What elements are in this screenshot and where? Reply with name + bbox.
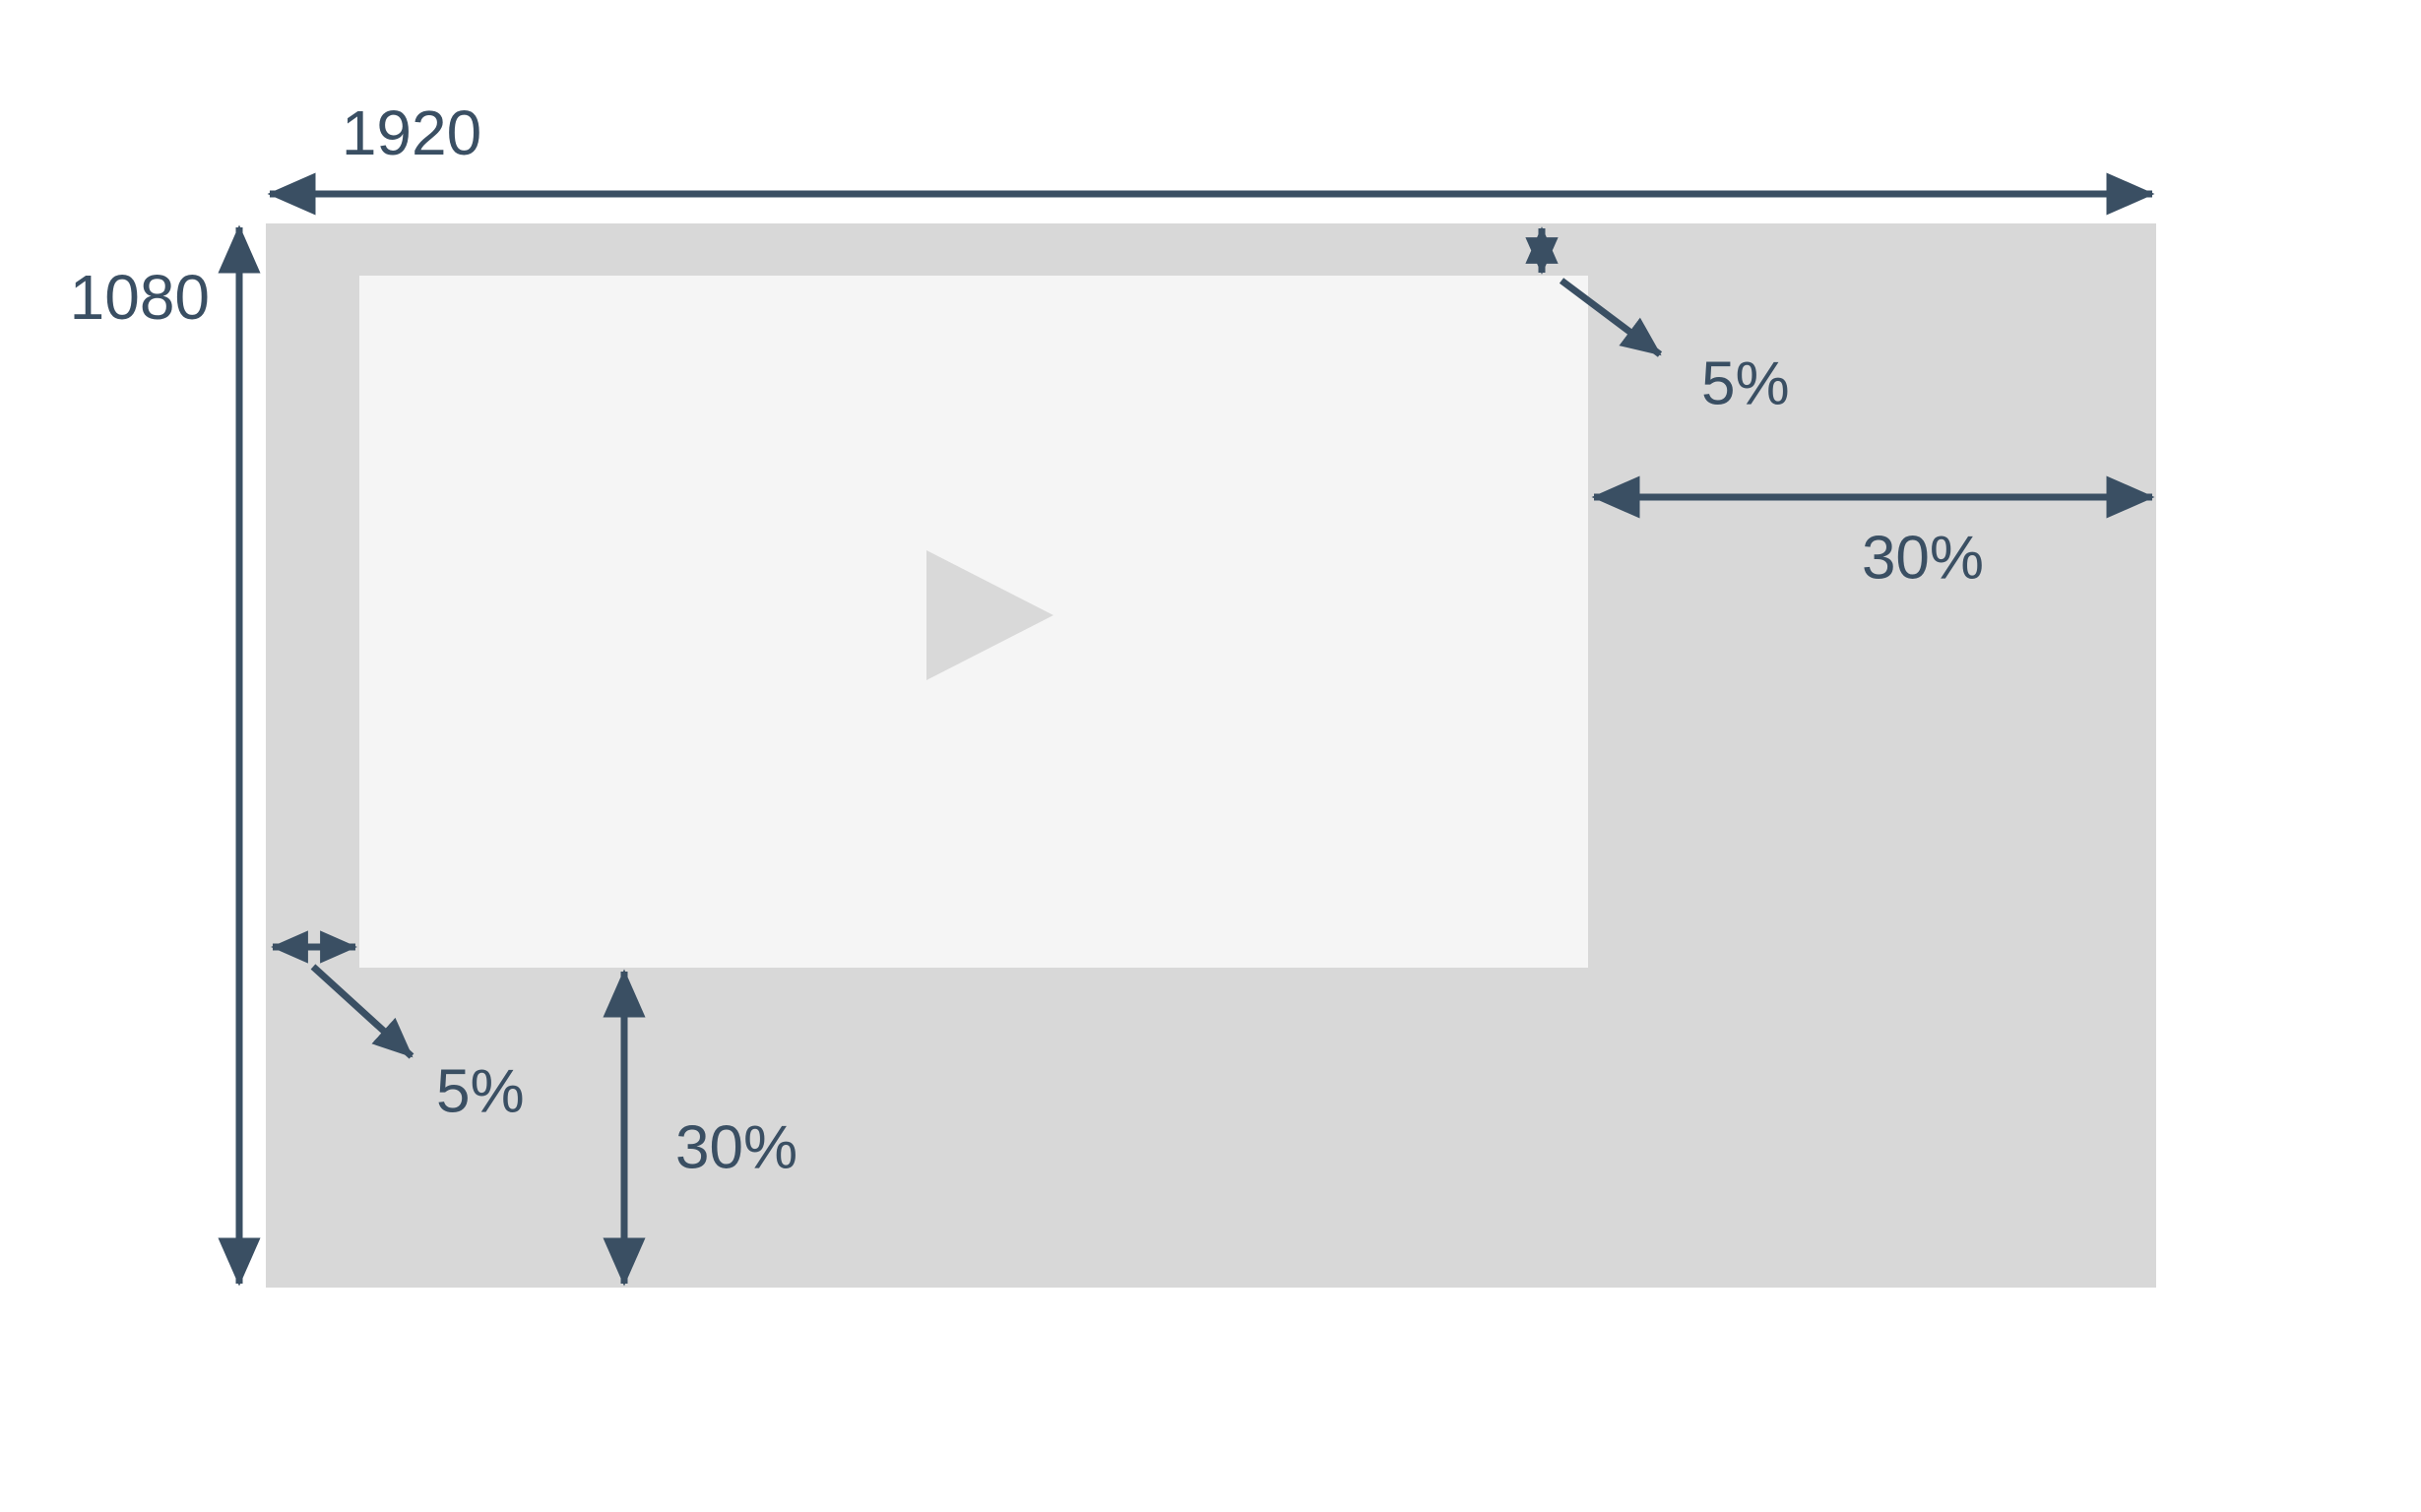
right-inset-label: 30% (1862, 524, 1984, 592)
top-inset-label: 5% (1701, 349, 1790, 417)
width-dimension-label: 1920 (342, 97, 481, 168)
bottom-inset-label: 30% (675, 1113, 797, 1181)
left-inset-label: 5% (436, 1057, 525, 1125)
height-dimension-label: 1080 (70, 262, 210, 333)
diagram-root: 1920 1080 5% 30% 5% 30% (0, 0, 2421, 1512)
dimension-diagram: 1920 1080 5% 30% 5% 30% (0, 0, 2421, 1512)
